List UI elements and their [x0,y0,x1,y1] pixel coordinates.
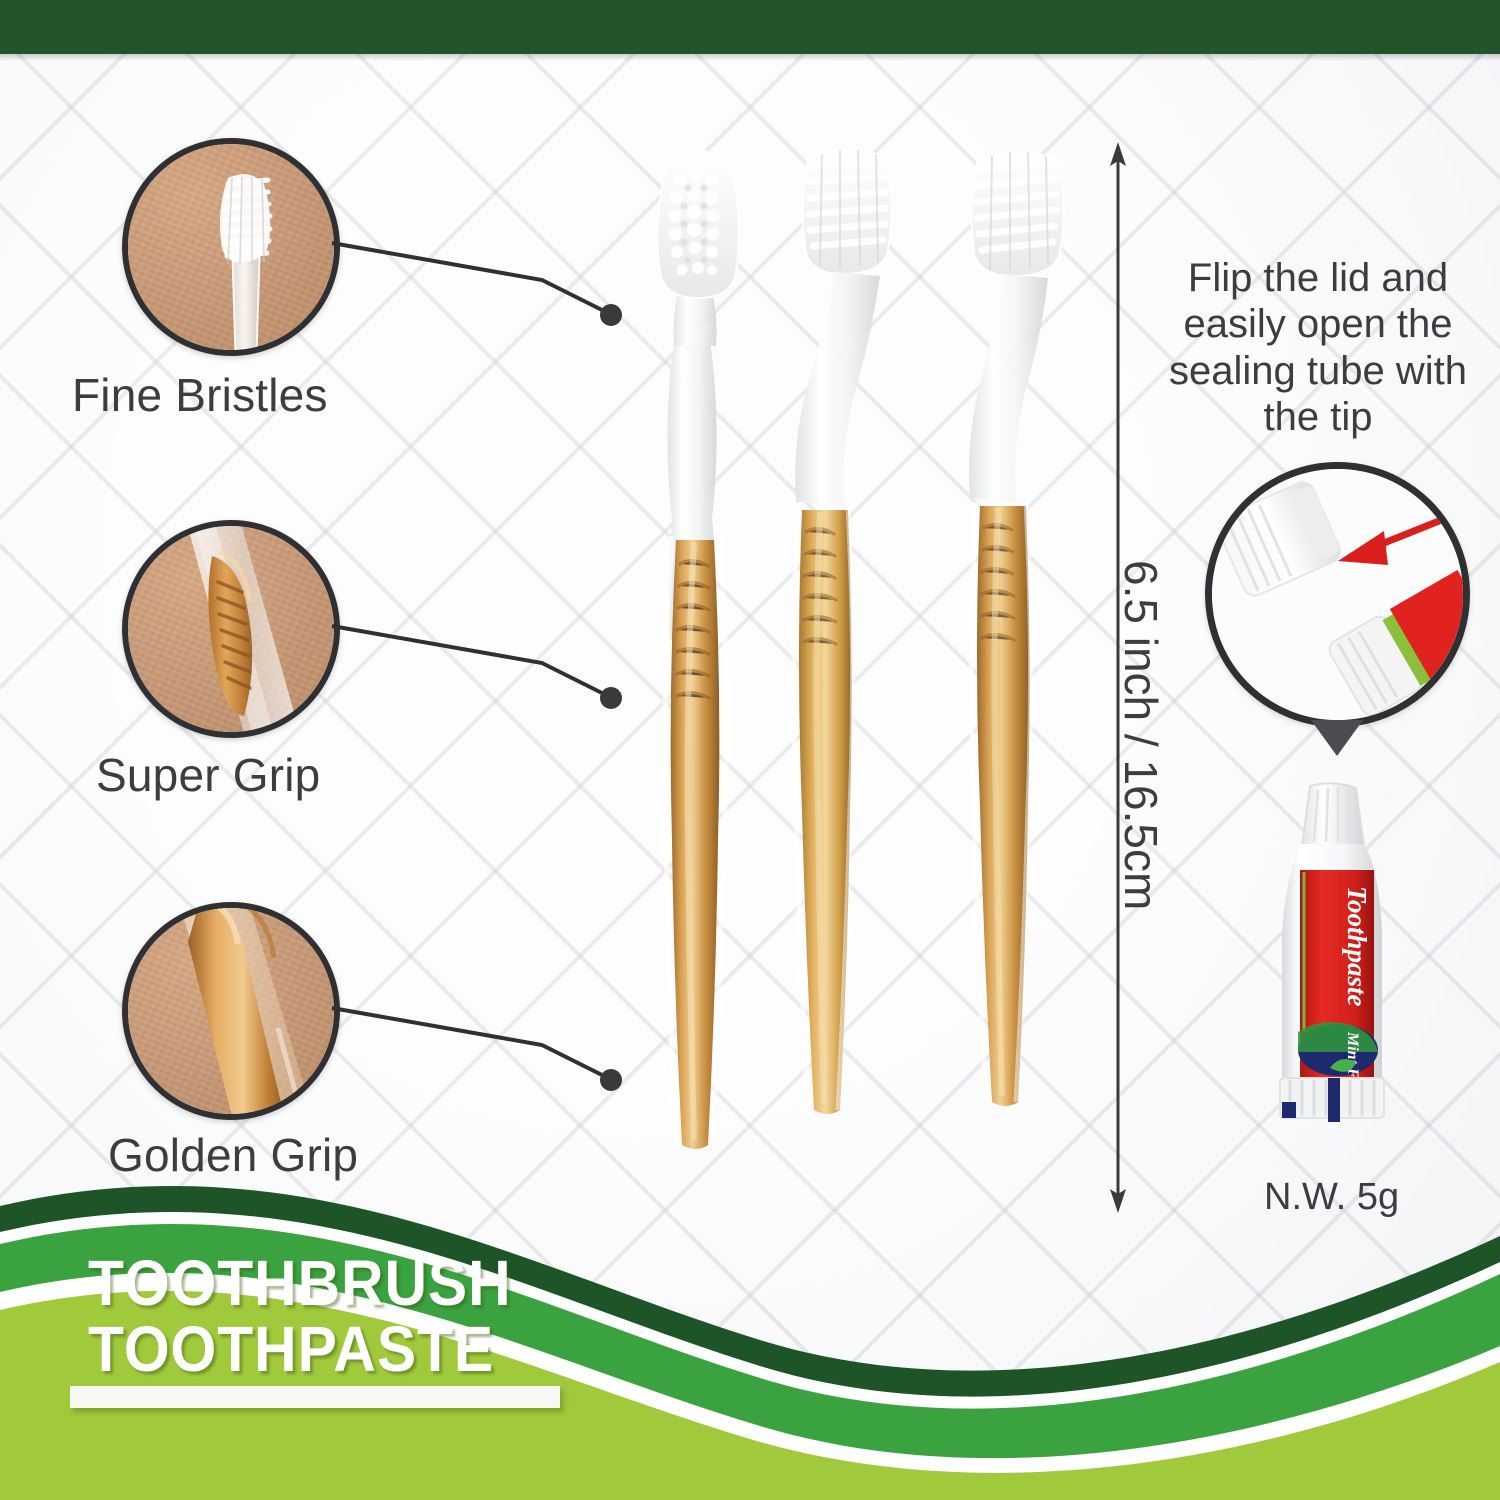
leader-line-golden-grip [330,990,630,1105]
infographic-canvas: Fine Bristles [0,0,1500,1500]
feature-label-fine-bristles: Fine Bristles [72,368,328,422]
toothbrush-grip-closeup-icon [122,520,340,738]
banner-title: TOOTHBRUSH TOOTHPASTE [88,1251,512,1382]
top-bar [0,0,1500,54]
tip-instruction-text: Flip the lid and easily open the sealing… [1168,255,1468,441]
lid-flip-demo-icon [1205,462,1470,727]
golden-handle-closeup-icon [122,902,340,1120]
toothbrush-3 [969,152,1063,1106]
tube-brand-text: Toothpaste [1342,886,1372,1007]
leader-line-fine-bristles [330,225,630,340]
bottom-wave-banner: TOOTHBRUSH TOOTHPASTE [0,1170,1500,1500]
toothbrush-head-closeup-icon [122,138,340,356]
dimension-label: 6.5 inch / 16.5cm [1114,560,1168,910]
feature-label-super-grip: Super Grip [96,748,320,802]
banner-title-line2: TOOTHPASTE [88,1317,512,1382]
toothbrush-2 [793,150,891,1114]
toothpaste-tube-icon: Toothpaste Mint Fresh [1252,782,1432,1172]
toothbrush-1 [657,151,739,1149]
toothbrush-group [620,140,1100,1230]
leader-line-super-grip [330,608,630,723]
banner-title-line1: TOOTHBRUSH [88,1251,512,1316]
down-arrow-icon [1311,720,1363,756]
banner-underline [70,1386,560,1408]
